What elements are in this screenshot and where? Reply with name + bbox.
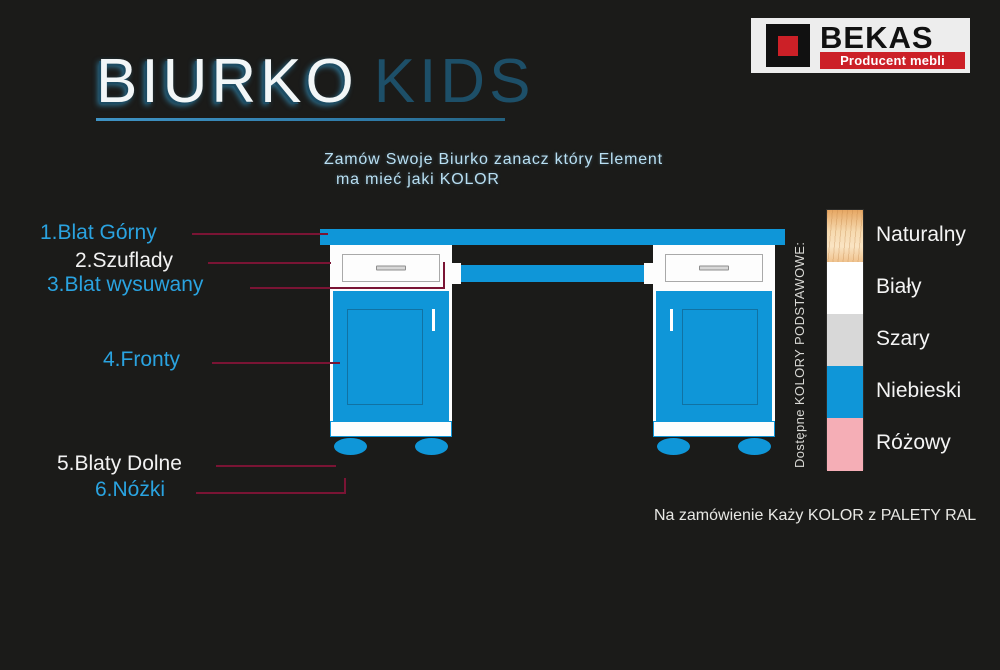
swatch-label-naturalny: Naturalny (876, 223, 966, 247)
cabinet-body-left (330, 291, 452, 421)
pedestal-left (330, 245, 452, 468)
door-handle-left-icon (432, 309, 435, 331)
pullout-shelf (452, 263, 653, 284)
door-handle-right-icon (670, 309, 673, 331)
shelf-cap-right (644, 263, 653, 284)
swatch-label-niebieski: Niebieski (876, 379, 961, 403)
callout-label-fronty: 4.Fronty (103, 348, 180, 372)
palette-heading: Dostępne KOLORY PODSTAWOWE: (792, 212, 810, 468)
drawer-face-left (342, 254, 440, 282)
door-panel-right (682, 309, 758, 405)
callout-label-blat-gorny: 1.Blat Górny (40, 221, 157, 245)
pedestal-right (653, 245, 775, 468)
foot-left-back (415, 438, 448, 455)
bottom-board-left (330, 421, 452, 437)
shelf-board (461, 265, 644, 282)
swatch-bialy[interactable] (827, 262, 863, 314)
leader-line-1 (192, 233, 328, 235)
swatch-naturalny[interactable] (827, 210, 863, 262)
leader-line-5 (216, 465, 336, 467)
foot-left-front (334, 438, 367, 455)
leader-line-2 (208, 262, 331, 264)
leader-line-3-riser (443, 262, 445, 289)
color-palette (826, 209, 864, 470)
callout-label-szuflady: 2.Szuflady (75, 249, 173, 273)
leader-line-3 (250, 287, 445, 289)
leader-line-6-riser (344, 478, 346, 494)
bottom-board-right (653, 421, 775, 437)
desk-top-board (320, 229, 785, 245)
drawer-handle-icon (699, 266, 729, 271)
footnote-text: Na zamówienie Każy KOLOR z PALETY RAL (654, 507, 976, 525)
swatch-label-bialy: Biały (876, 275, 922, 299)
swatch-label-rozowy: Różowy (876, 431, 951, 455)
leader-line-4 (212, 362, 340, 364)
shelf-cap-left (452, 263, 461, 284)
callout-label-blaty-dolne: 5.Blaty Dolne (57, 452, 182, 476)
drawer-unit-left (330, 245, 452, 291)
cabinet-body-right (653, 291, 775, 421)
callout-label-blat-wysuwany: 3.Blat wysuwany (47, 273, 203, 297)
door-panel-left (347, 309, 423, 405)
swatch-rozowy[interactable] (827, 418, 863, 471)
swatch-label-szary: Szary (876, 327, 930, 351)
swatch-szary[interactable] (827, 314, 863, 366)
foot-right-front (657, 438, 690, 455)
swatch-niebieski[interactable] (827, 366, 863, 418)
drawer-unit-right (653, 245, 775, 291)
leader-line-6 (196, 492, 346, 494)
drawer-face-right (665, 254, 763, 282)
callout-label-nozki: 6.Nóżki (95, 478, 165, 502)
foot-right-back (738, 438, 771, 455)
drawer-handle-icon (376, 266, 406, 271)
poster-canvas: BIURKOKIDS BEKAS Producent mebli Zamów S… (0, 0, 1000, 670)
